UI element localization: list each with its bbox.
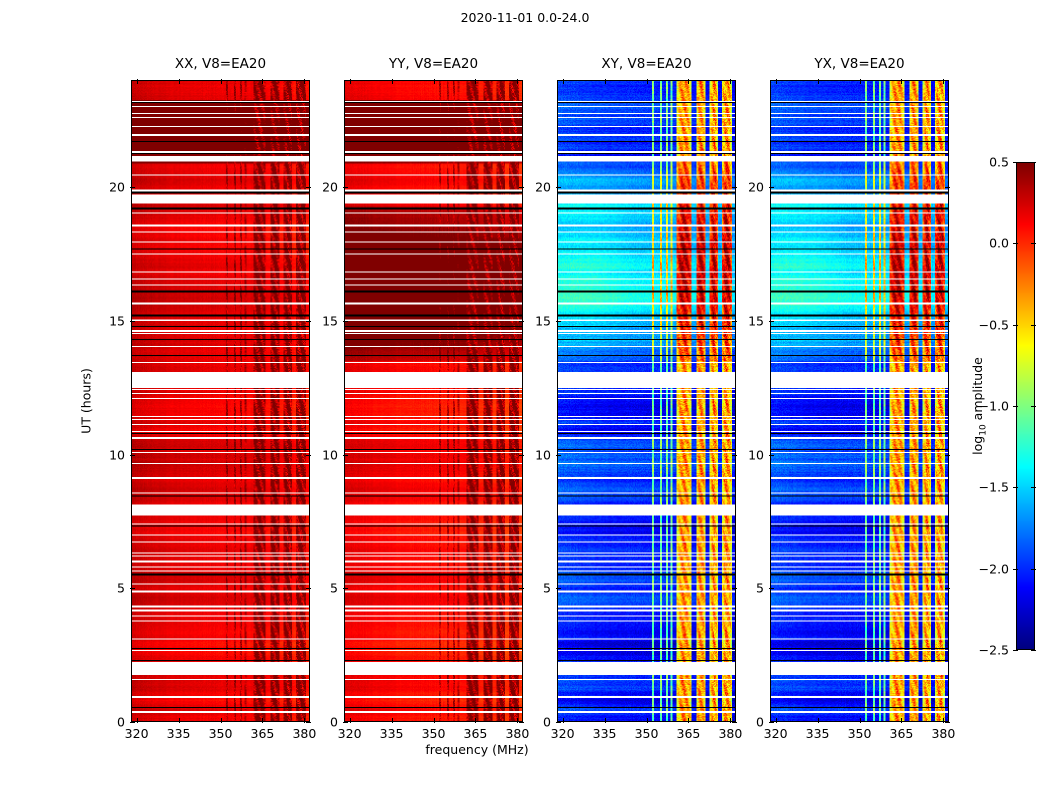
y-tick (945, 588, 950, 589)
colorbar-tick-label: −2.5 (979, 643, 1009, 658)
x-tick-label: 320 (338, 726, 362, 741)
y-tick-label: 0 (543, 715, 551, 730)
y-tick (130, 722, 135, 723)
panel-xy-axes[interactable] (557, 80, 736, 722)
colorbar-tick-label: −0.5 (979, 317, 1009, 332)
panel-yx-axes[interactable] (770, 80, 949, 722)
y-tick (306, 455, 311, 456)
panel-yx-title: YX, V8=EA20 (770, 56, 949, 72)
colorbar-tick (1031, 162, 1036, 163)
y-tick-label: 10 (322, 447, 338, 462)
y-tick-label: 10 (748, 447, 764, 462)
y-tick (769, 455, 774, 456)
x-tick (901, 79, 902, 84)
colorbar-tick (1031, 487, 1036, 488)
colorbar-tick-label: −2.0 (979, 561, 1009, 576)
x-tick (818, 79, 819, 84)
panel-yy-heatmap (345, 81, 522, 721)
y-axis-label: UT (hours) (79, 368, 94, 434)
y-tick-label: 5 (756, 581, 764, 596)
panel-xy-heatmap (558, 81, 735, 721)
x-tick-label: 365 (677, 726, 701, 741)
panel-yx-heatmap-canvas (771, 81, 948, 721)
colorbar-tick (1013, 243, 1018, 244)
y-tick (769, 722, 774, 723)
panel-yy-heatmap-canvas (345, 81, 522, 721)
x-tick (434, 718, 435, 723)
y-tick (306, 588, 311, 589)
panel-yy: YY, V8=EA2032033535036538005101520 (344, 80, 523, 722)
x-tick (475, 718, 476, 723)
x-tick (818, 718, 819, 723)
panel-xx-axes[interactable] (131, 80, 310, 722)
panel-xx-heatmap-canvas (132, 81, 309, 721)
y-tick (343, 722, 348, 723)
x-tick (262, 79, 263, 84)
colorbar-tick (1013, 325, 1018, 326)
y-tick (519, 588, 524, 589)
colorbar-tick (1013, 569, 1018, 570)
panel-yy-axes[interactable] (344, 80, 523, 722)
figure-suptitle: 2020-11-01 0.0-24.0 (0, 10, 1050, 25)
x-tick (860, 79, 861, 84)
x-tick-label: 350 (209, 726, 233, 741)
colorbar-label-prefix: log (970, 436, 985, 455)
x-tick (688, 718, 689, 723)
y-tick-label: 0 (330, 715, 338, 730)
colorbar-tick-label: 0.5 (989, 155, 1009, 170)
x-tick-label: 335 (806, 726, 830, 741)
x-tick (647, 718, 648, 723)
y-tick (130, 187, 135, 188)
y-tick (519, 187, 524, 188)
y-tick-label: 20 (322, 180, 338, 195)
y-tick-label: 10 (109, 447, 125, 462)
y-tick (306, 187, 311, 188)
x-tick-label: 380 (505, 726, 529, 741)
y-tick-label: 15 (322, 313, 338, 328)
x-tick-label: 380 (718, 726, 742, 741)
y-tick (732, 722, 737, 723)
y-tick-label: 5 (330, 581, 338, 596)
x-tick (475, 79, 476, 84)
y-tick (519, 321, 524, 322)
y-tick (130, 455, 135, 456)
y-tick (732, 321, 737, 322)
x-tick-label: 335 (380, 726, 404, 741)
colorbar-axis-label: log10 amplitude (970, 357, 989, 455)
x-tick (392, 718, 393, 723)
x-tick-label: 365 (251, 726, 275, 741)
colorbar-tick (1031, 650, 1036, 651)
x-tick (563, 718, 564, 723)
y-tick (945, 321, 950, 322)
y-tick-label: 5 (543, 581, 551, 596)
x-tick-label: 365 (890, 726, 914, 741)
x-tick-label: 380 (292, 726, 316, 741)
y-tick (556, 321, 561, 322)
x-tick-label: 365 (464, 726, 488, 741)
x-tick (860, 718, 861, 723)
panel-xy-title: XY, V8=EA20 (557, 56, 736, 72)
x-tick (137, 79, 138, 84)
y-tick (945, 722, 950, 723)
colorbar-tick (1031, 325, 1036, 326)
colorbar-tick (1031, 406, 1036, 407)
y-tick (556, 455, 561, 456)
y-tick-label: 0 (756, 715, 764, 730)
x-tick (688, 79, 689, 84)
y-tick (945, 455, 950, 456)
x-tick-label: 320 (551, 726, 575, 741)
y-tick-label: 20 (535, 180, 551, 195)
y-tick-label: 10 (535, 447, 551, 462)
x-tick (179, 79, 180, 84)
x-tick-label: 350 (635, 726, 659, 741)
x-tick (730, 79, 731, 84)
x-tick (221, 79, 222, 84)
panel-yy-title: YY, V8=EA20 (344, 56, 523, 72)
x-tick (434, 79, 435, 84)
y-tick (769, 321, 774, 322)
colorbar-tick (1013, 650, 1018, 651)
x-tick-label: 350 (422, 726, 446, 741)
y-tick (732, 187, 737, 188)
y-tick (519, 455, 524, 456)
colorbar-tick (1013, 487, 1018, 488)
y-tick (306, 722, 311, 723)
y-tick (306, 321, 311, 322)
y-tick (556, 722, 561, 723)
y-tick (556, 588, 561, 589)
panel-xy: XY, V8=EA2032033535036538005101520 (557, 80, 736, 722)
y-tick-label: 15 (109, 313, 125, 328)
y-tick (130, 321, 135, 322)
y-tick (130, 588, 135, 589)
x-tick-label: 335 (167, 726, 191, 741)
colorbar-tick (1031, 569, 1036, 570)
x-tick (304, 79, 305, 84)
y-tick (519, 722, 524, 723)
x-tick (776, 718, 777, 723)
x-tick (563, 79, 564, 84)
x-tick (776, 79, 777, 84)
colorbar-tick (1013, 406, 1018, 407)
y-tick (343, 187, 348, 188)
y-tick (732, 588, 737, 589)
x-tick (901, 718, 902, 723)
x-tick (350, 718, 351, 723)
y-tick-label: 15 (535, 313, 551, 328)
y-tick-label: 20 (748, 180, 764, 195)
x-tick-label: 335 (593, 726, 617, 741)
x-tick (137, 718, 138, 723)
figure-root: 2020-11-01 0.0-24.0 UT (hours) frequency… (0, 0, 1050, 800)
colorbar-tick-label: 0.0 (989, 236, 1009, 251)
colorbar-label-suffix: amplitude (970, 357, 985, 424)
x-axis-label: frequency (MHz) (0, 742, 1050, 757)
panel-xx: XX, V8=EA2032033535036538005101520 (131, 80, 310, 722)
x-tick (605, 718, 606, 723)
x-tick (943, 79, 944, 84)
panel-xx-title: XX, V8=EA20 (131, 56, 310, 72)
x-tick (517, 79, 518, 84)
x-tick (350, 79, 351, 84)
y-tick (769, 588, 774, 589)
y-tick (769, 187, 774, 188)
colorbar-tick (1013, 162, 1018, 163)
x-tick (262, 718, 263, 723)
colorbar-label-sub: 10 (978, 424, 988, 435)
y-tick-label: 0 (117, 715, 125, 730)
panel-xy-heatmap-canvas (558, 81, 735, 721)
x-tick (392, 79, 393, 84)
x-tick-label: 320 (125, 726, 149, 741)
y-tick-label: 5 (117, 581, 125, 596)
y-tick (343, 455, 348, 456)
x-tick-label: 350 (848, 726, 872, 741)
y-tick (945, 187, 950, 188)
y-tick (732, 455, 737, 456)
x-axis-label-text: frequency (MHz) (425, 742, 528, 757)
x-tick (179, 718, 180, 723)
panel-xx-heatmap (132, 81, 309, 721)
panel-yx: YX, V8=EA2032033535036538005101520 (770, 80, 949, 722)
panel-yx-heatmap (771, 81, 948, 721)
x-tick-label: 380 (931, 726, 955, 741)
y-tick-label: 15 (748, 313, 764, 328)
colorbar-tick-label: −1.5 (979, 480, 1009, 495)
x-tick (647, 79, 648, 84)
x-tick-label: 320 (764, 726, 788, 741)
y-tick-label: 20 (109, 180, 125, 195)
x-tick (221, 718, 222, 723)
colorbar-tick (1031, 243, 1036, 244)
y-tick (556, 187, 561, 188)
x-tick (605, 79, 606, 84)
y-tick (343, 588, 348, 589)
y-tick (343, 321, 348, 322)
